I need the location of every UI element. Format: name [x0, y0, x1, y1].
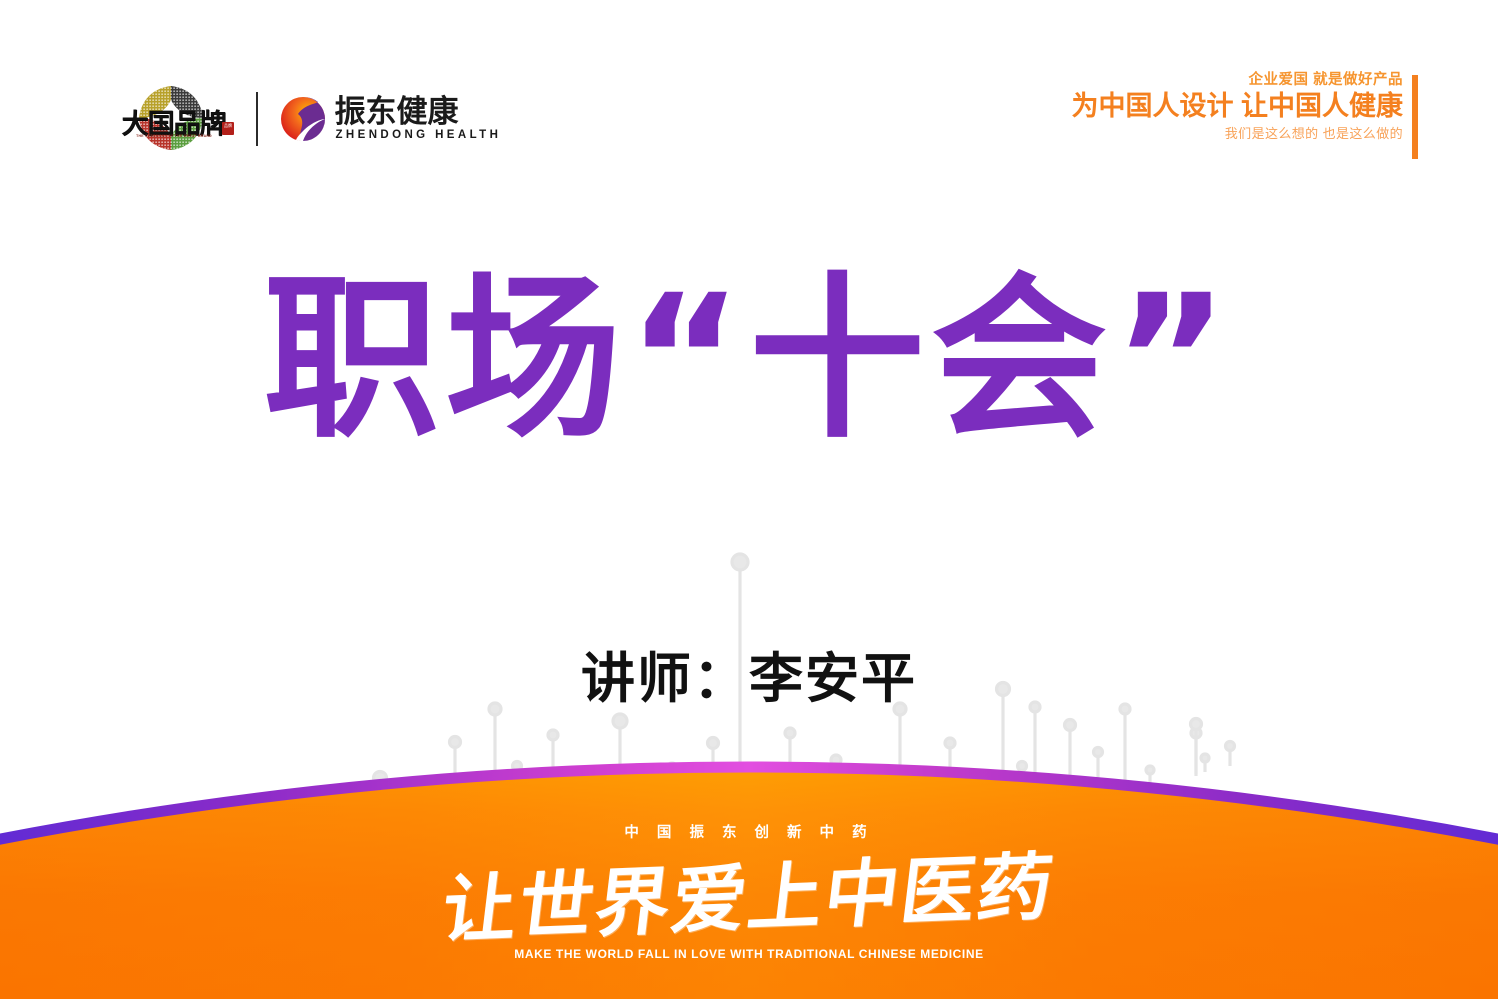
slogan-bottom-line: 我们是这么想的 也是这么做的 [1071, 126, 1403, 143]
da-guo-pin-pai-tagline: THE CEREMONY OF THE GREAT BRAND [131, 134, 217, 138]
presentation-slide: 大国品牌 THE CEREMONY OF THE GREAT BRAND 品牌 [0, 0, 1498, 999]
zhendong-text-block: 振东健康 ZHENDONG HEALTH [335, 97, 502, 141]
arc-shape [0, 739, 1498, 999]
slide-title: 职场“十会” [0, 272, 1498, 448]
seal-stamp-icon: 品牌 [222, 122, 234, 135]
header-divider [256, 92, 258, 146]
slogan-main-line: 为中国人设计 让中国人健康 [1071, 91, 1403, 123]
zhendong-name-cn: 振东健康 [335, 97, 502, 128]
slogan-top-line: 企业爱国 就是做好产品 [1071, 72, 1403, 89]
da-guo-pin-pai-logo: 大国品牌 THE CEREMONY OF THE GREAT BRAND 品牌 [113, 78, 238, 160]
zhendong-circle-icon [280, 96, 326, 142]
brand-lockup: 大国品牌 THE CEREMONY OF THE GREAT BRAND 品牌 [113, 78, 501, 160]
slogan-vertical-rule [1412, 75, 1418, 159]
zhendong-health-logo: 振东健康 ZHENDONG HEALTH [280, 96, 502, 142]
presenter-name: 讲师：李安平 [0, 634, 1498, 713]
corporate-slogan-block: 企业爱国 就是做好产品 为中国人设计 让中国人健康 我们是这么想的 也是这么做的 [1071, 72, 1403, 143]
zhendong-name-en: ZHENDONG HEALTH [335, 129, 502, 141]
bottom-arc-band [0, 739, 1498, 999]
